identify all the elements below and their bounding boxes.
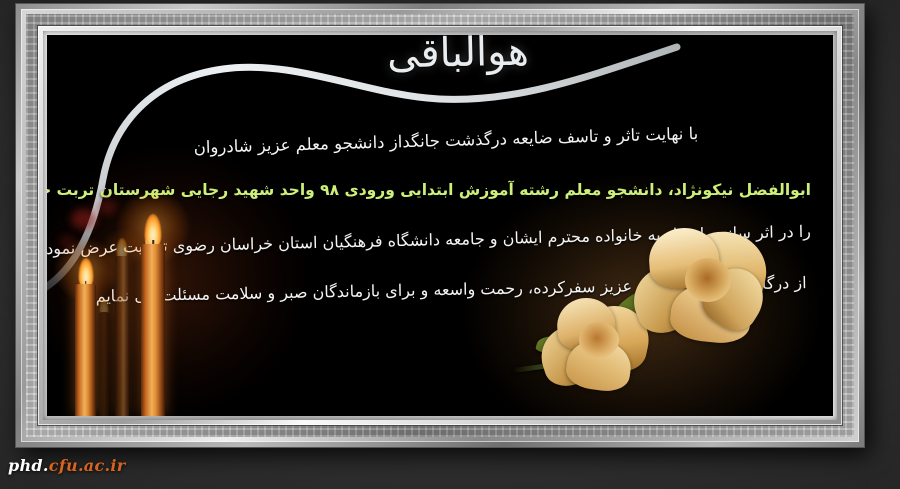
candle-left (75, 264, 96, 416)
watermark-part-1: phd. (8, 456, 49, 475)
rose-upper (631, 228, 771, 354)
notice-line-1: با نهایت تاثر و تاسف ضایعه درگذشت جانگدا… (81, 119, 811, 164)
candle-group (53, 181, 253, 416)
candle-far (99, 296, 109, 416)
watermark: phd.cfu.ac.ir (8, 456, 126, 475)
memorial-plaque: هوالباقی با نهایت تاثر و تاسف ضایعه درگذ… (47, 35, 833, 416)
candle-main (141, 220, 165, 416)
picture-frame: هوالباقی با نهایت تاثر و تاسف ضایعه درگذ… (16, 4, 864, 447)
bokeh-dot (71, 209, 97, 229)
rose-group (503, 201, 833, 416)
hoo-al-baqi-calligraphy: هوالباقی (65, 35, 833, 81)
bokeh-dot (97, 199, 117, 215)
watermark-part-2: cfu.ac.ir (49, 456, 126, 475)
memorial-notice-image: هوالباقی با نهایت تاثر و تاسف ضایعه درگذ… (0, 0, 900, 489)
